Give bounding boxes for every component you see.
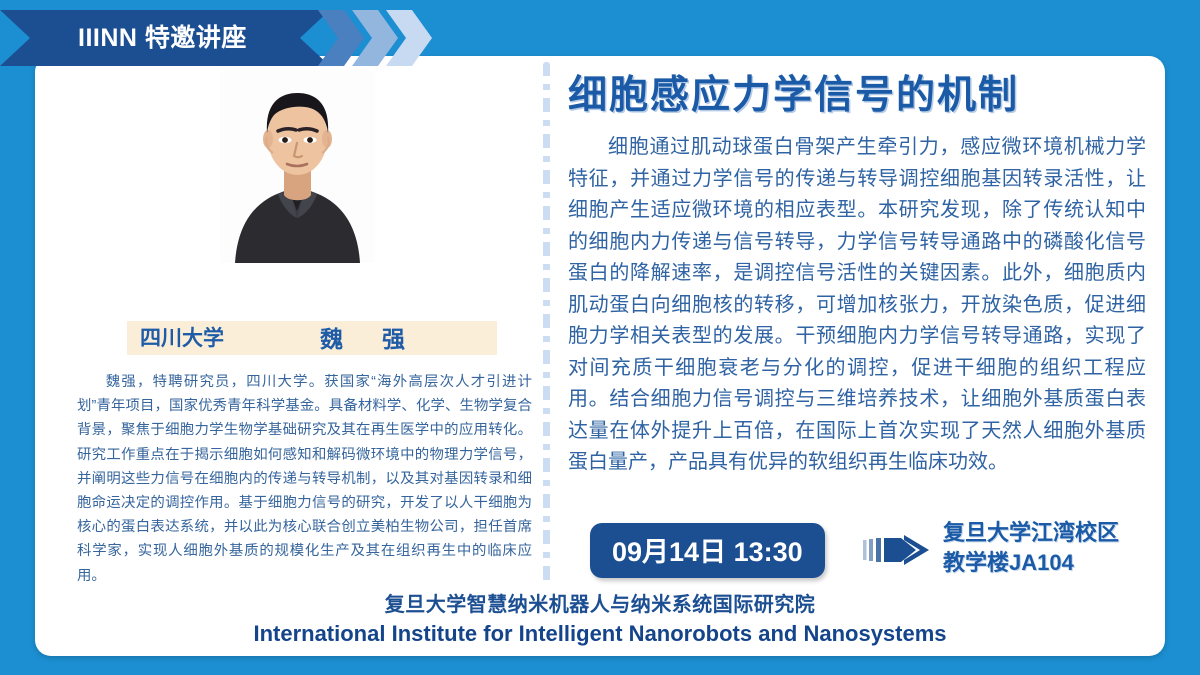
- speaker-affiliation: 四川大学: [140, 322, 320, 356]
- ribbon-label: IIINN 特邀讲座: [78, 10, 247, 66]
- talk-abstract: 细胞通过肌动球蛋白骨架产生牵引力，感应微环境机械力学特征，并通过力学信号的传递与…: [568, 132, 1146, 479]
- speaker-portrait: [220, 71, 375, 263]
- talk-panel: 细胞感应力学信号的机制 细胞通过肌动球蛋白骨架产生牵引力，感应微环境机械力学特征…: [568, 70, 1146, 479]
- chevron-arrow-icon-3: [386, 10, 432, 66]
- event-venue: 复旦大学江湾校区 教学楼JA104: [943, 518, 1153, 578]
- speaker-panel: 四川大学 魏 强 魏强，特聘研究员，四川大学。获国家“海外高层次人才引进计划”青…: [35, 66, 535, 586]
- header-ribbon: IIINN 特邀讲座: [0, 10, 470, 66]
- event-venue-line1: 复旦大学江湾校区: [943, 518, 1153, 548]
- event-venue-line2: 教学楼JA104: [943, 548, 1153, 578]
- footer: 复旦大学智慧纳米机器人与纳米系统国际研究院 International Inst…: [35, 592, 1165, 649]
- vertical-dashed-divider: [543, 62, 550, 582]
- event-meta-row: 09月14日 13:30 复旦大学江湾校区 教学楼JA104: [568, 520, 1148, 580]
- speaker-name: 魏 强: [320, 322, 495, 356]
- footer-institute-cn: 复旦大学智慧纳米机器人与纳米系统国际研究院: [35, 592, 1165, 619]
- talk-title: 细胞感应力学信号的机制: [568, 70, 1146, 122]
- speaker-bio: 魏强，特聘研究员，四川大学。获国家“海外高层次人才引进计划”青年项目，国家优秀青…: [77, 370, 532, 588]
- event-datetime-badge: 09月14日 13:30: [590, 523, 825, 578]
- right-arrow-icon: [863, 534, 935, 566]
- footer-institute-en: International Institute for Intelligent …: [35, 619, 1165, 649]
